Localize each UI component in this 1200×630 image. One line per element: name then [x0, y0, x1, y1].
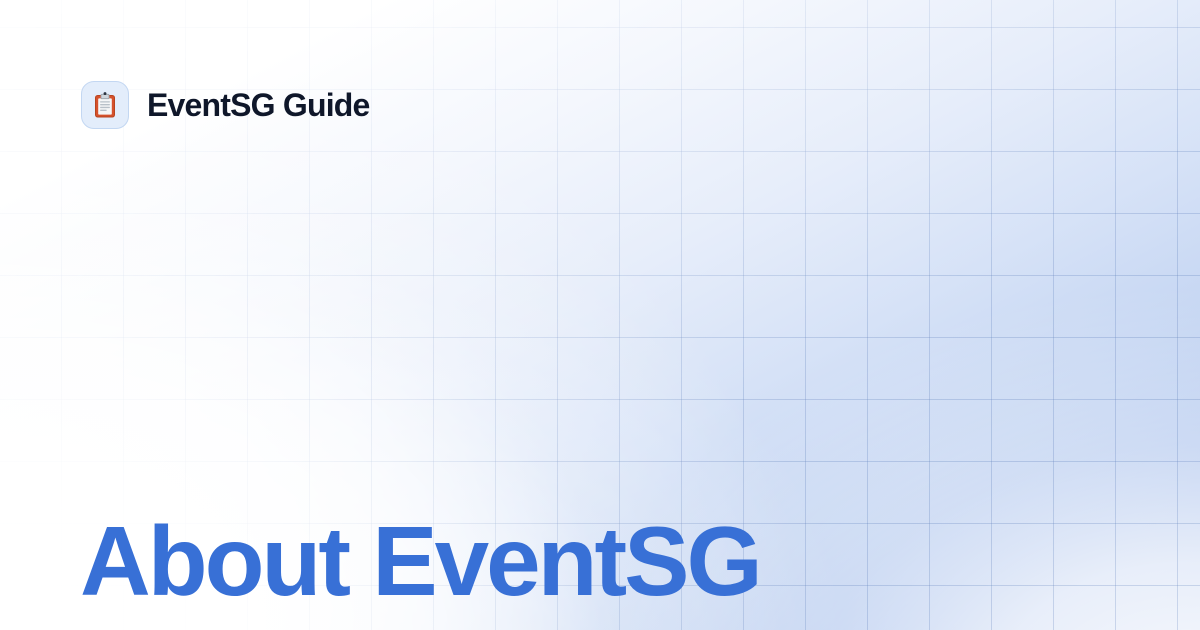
share-card: EventSG Guide About EventSG	[0, 0, 1200, 630]
page-title: About EventSG	[80, 512, 760, 610]
clipboard-icon	[91, 91, 119, 119]
brand-name: EventSG Guide	[147, 89, 370, 121]
brand-row: EventSG Guide	[81, 81, 370, 129]
brand-icon-badge	[81, 81, 129, 129]
